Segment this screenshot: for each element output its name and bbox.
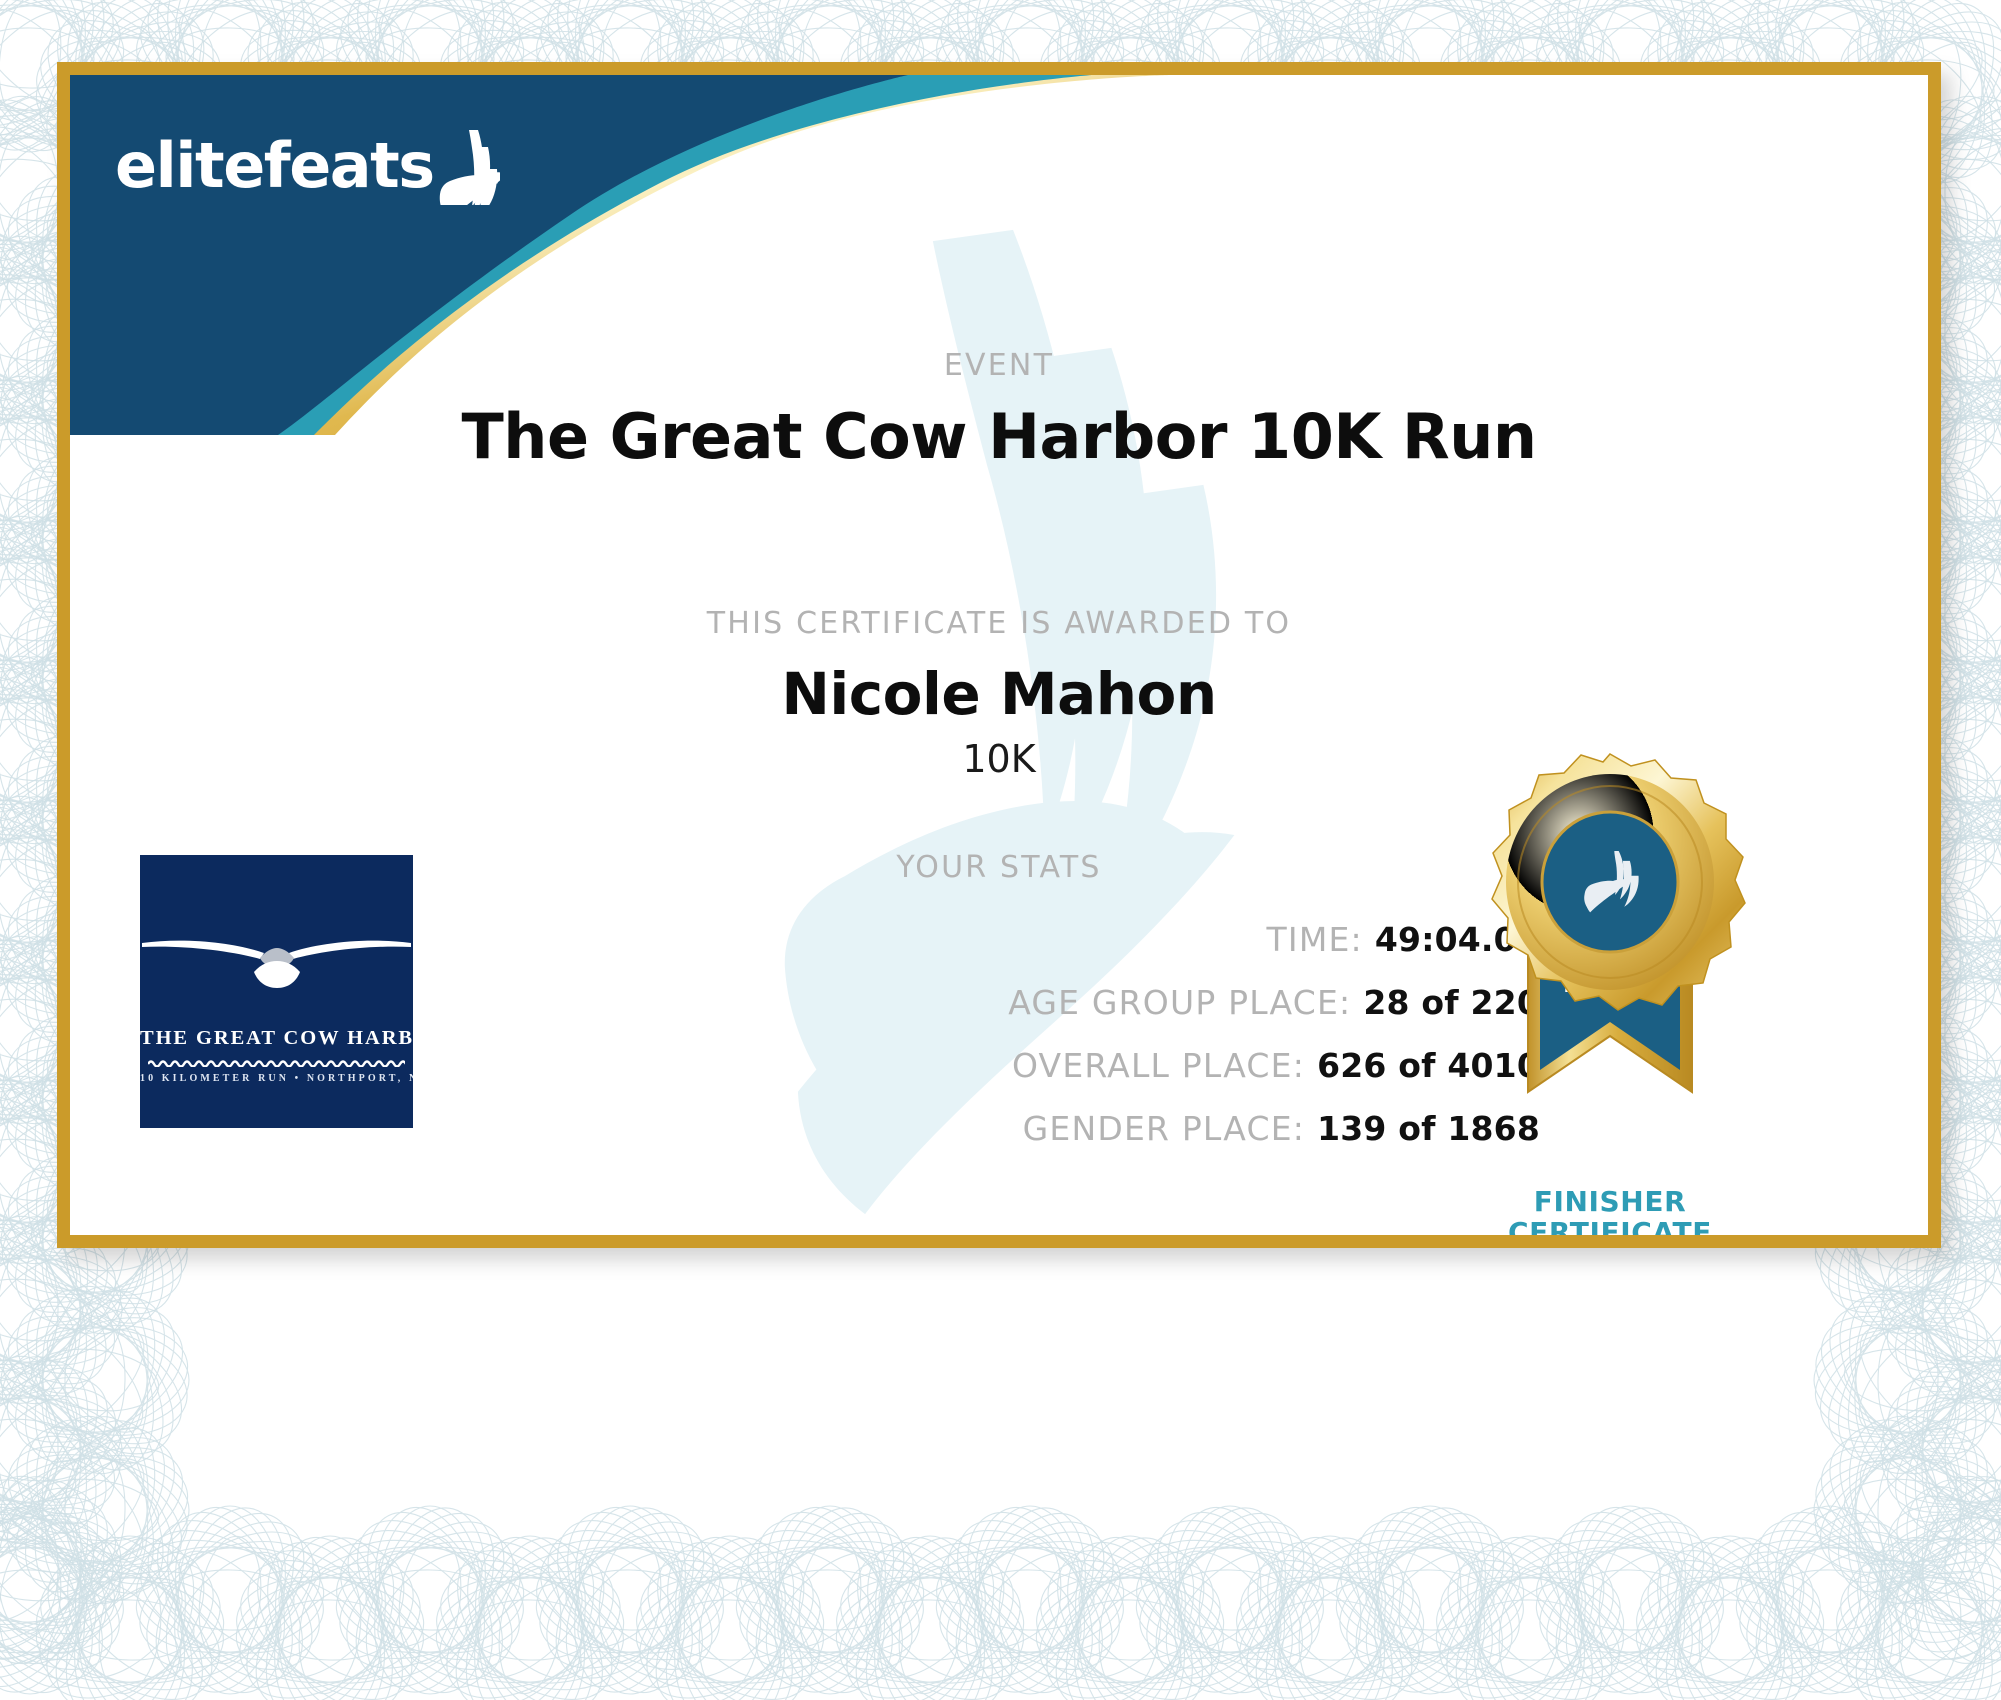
certificate-frame: elitefeats EVENT The Great Cow Harbor 10… [57,62,1941,1248]
medal-rosette-icon: 2022 [1460,740,1760,1180]
event-label: EVENT [70,348,1928,383]
medal-caption: FINISHER CERTIFICATE [1460,1186,1760,1248]
seagull-icon [140,931,413,993]
certificate-content: EVENT The Great Cow Harbor 10K Run THIS … [70,75,1928,1235]
race-logo-title: THE GREAT COW HARBOR [140,1027,413,1050]
stat-row-age-group-place: AGE GROUP PLACE: 28 of 220 [310,983,1540,1022]
stat-row-gender-place: GENDER PLACE: 139 of 1868 [310,1109,1540,1148]
elitefeats-brand-lockup: elitefeats [115,127,500,197]
stat-row-overall-place: OVERALL PLACE: 626 of 4010 [310,1046,1540,1085]
stat-row-time: TIME: 49:04.00 [310,920,1540,959]
recipient-name: Nicole Mahon [70,660,1928,728]
stats-list: TIME: 49:04.00 AGE GROUP PLACE: 28 of 22… [310,920,1540,1172]
wavy-divider-icon [148,1058,405,1067]
stat-key-age-group-place: AGE GROUP PLACE: [1008,983,1351,1022]
medal-caption-line2: CERTIFICATE [1460,1217,1760,1248]
finisher-medal-badge: 2022 FINISHER [1460,740,1760,1248]
certificate-page: elitefeats EVENT The Great Cow Harbor 10… [0,0,2001,1700]
stat-key-time: TIME: [1267,920,1363,959]
brand-wordmark: elitefeats [115,135,434,197]
stat-key-overall-place: OVERALL PLACE: [1012,1046,1305,1085]
awarded-to-label: THIS CERTIFICATE IS AWARDED TO [70,606,1928,641]
event-title: The Great Cow Harbor 10K Run [70,400,1928,473]
race-logo: THE GREAT COW HARBOR 10 KILOMETER RUN • … [140,855,413,1128]
winged-foot-icon [438,127,500,205]
medal-caption-line1: FINISHER [1460,1186,1760,1217]
race-logo-subtitle: 10 KILOMETER RUN • NORTHPORT, NY [140,1073,413,1084]
stat-key-gender-place: GENDER PLACE: [1023,1109,1305,1148]
